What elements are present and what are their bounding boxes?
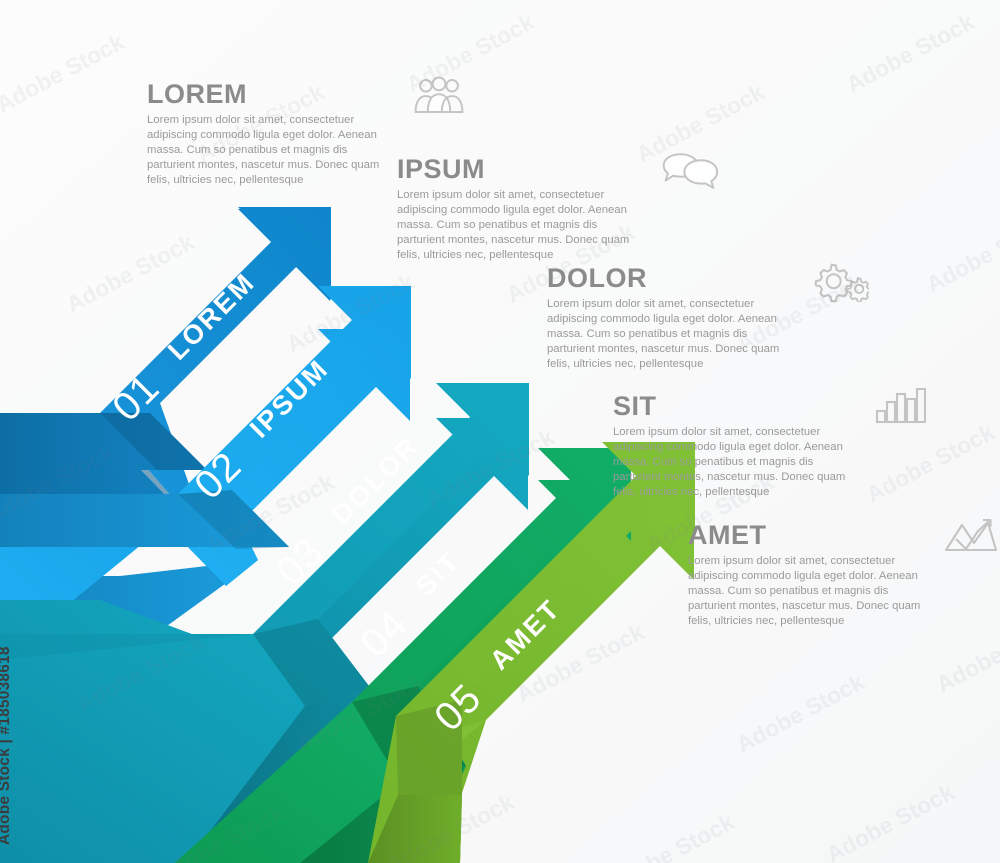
infographic-canvas: 01 LOREM 02 IPSUM 03 DOLOR 04 SIT 05 AME… [0,0,1000,863]
people-group-icon [409,76,469,118]
text-block-lorem-title: LOREM [147,80,397,108]
arrow-05-crease [396,700,462,795]
text-block-dolor-body: Lorem ipsum dolor sit amet, consectetuer… [547,297,792,372]
adobe-stock-watermark-id: Adobe Stock | #185038618 [0,646,14,845]
text-block-dolor-title: DOLOR [547,264,797,292]
gears-icon [809,260,869,302]
text-block-sit-title: SIT [613,392,863,420]
text-block-amet: AMET Lorem ipsum dolor sit amet, consect… [688,521,938,629]
text-block-ipsum: IPSUM Lorem ipsum dolor sit amet, consec… [397,155,647,263]
text-block-ipsum-body: Lorem ipsum dolor sit amet, consectetuer… [397,188,642,263]
text-block-ipsum-title: IPSUM [397,155,647,183]
text-block-sit: SIT Lorem ipsum dolor sit amet, consecte… [613,392,863,500]
text-block-amet-title: AMET [688,521,938,549]
text-block-lorem-body: Lorem ipsum dolor sit amet, consectetuer… [147,113,392,188]
growth-chart-icon [944,517,998,553]
text-block-amet-body: Lorem ipsum dolor sit amet, consectetuer… [688,554,933,629]
bar-chart-icon [875,388,927,424]
speech-bubbles-icon [659,151,719,193]
text-block-dolor: DOLOR Lorem ipsum dolor sit amet, consec… [547,264,797,372]
text-block-lorem: LOREM Lorem ipsum dolor sit amet, consec… [147,80,397,188]
text-block-sit-body: Lorem ipsum dolor sit amet, consectetuer… [613,425,858,500]
